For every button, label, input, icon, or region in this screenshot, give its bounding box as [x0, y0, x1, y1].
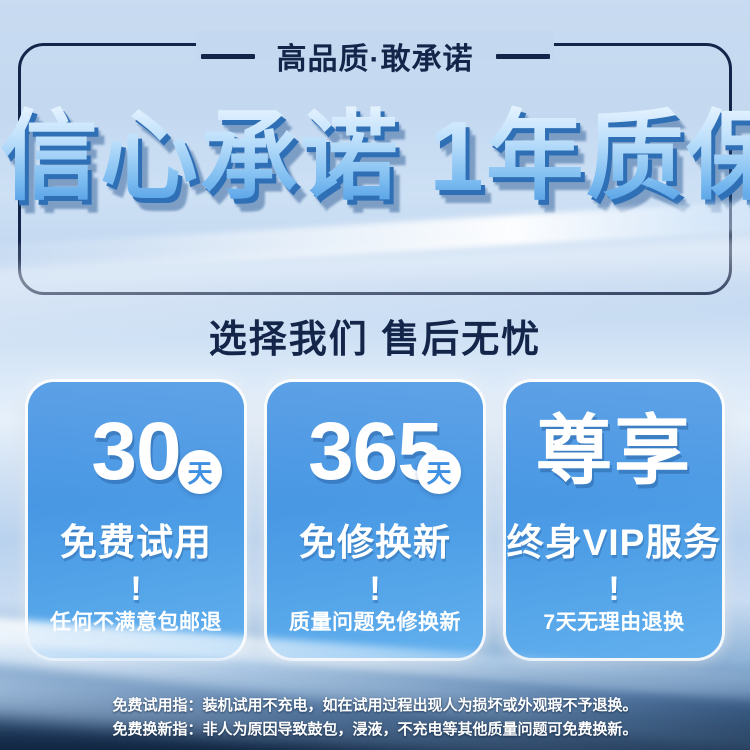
feature-card-trial[interactable]: 30 天 免费试用 ! 任何不满意包邮退	[28, 382, 244, 658]
day-unit-badge: 天	[178, 450, 222, 494]
footer-line-trial: 免费试用指：装机试用不充电，如在试用过程出现人为损坏或外观瑕不予退换。	[0, 694, 750, 718]
sub-headline: 选择我们 售后无忧	[0, 308, 750, 363]
card-note: 任何不满意包邮退	[50, 606, 222, 636]
feature-card-vip[interactable]: 尊享 终身VIP服务 ! 7天无理由退换	[506, 382, 722, 658]
card-big-label: 尊享	[536, 414, 692, 490]
card-headline-row: 尊享	[506, 408, 722, 496]
dash-left-icon	[201, 54, 255, 59]
feature-card-replacement[interactable]: 365 天 免修换新 ! 质量问题免修换新	[267, 382, 483, 658]
card-exclamation: !	[369, 572, 380, 606]
feature-card-row: 30 天 免费试用 ! 任何不满意包邮退 365 天 免修换新 ! 质量问题免修…	[28, 382, 722, 658]
day-unit-badge: 天	[417, 450, 461, 494]
dash-right-icon	[496, 54, 550, 59]
footer-disclaimer: 免费试用指：装机试用不充电，如在试用过程出现人为损坏或外观瑕不予退换。 免费换新…	[0, 694, 750, 742]
promo-banner: 高品质·敢承诺 信心承诺 1年质保 信心承诺 1年质保 选择我们 售后无忧 30…	[0, 0, 750, 750]
card-headline-row: 30 天	[28, 408, 244, 496]
eyebrow-row: 高品质·敢承诺	[0, 34, 750, 78]
card-exclamation: !	[608, 572, 619, 606]
card-mid-label: 免修换新	[299, 512, 451, 566]
card-note: 质量问题免修换新	[289, 606, 461, 636]
card-note: 7天无理由退换	[543, 606, 684, 636]
card-headline-row: 365 天	[267, 408, 483, 496]
card-mid-label: 终身VIP服务	[507, 512, 722, 566]
card-big-number: 30	[91, 411, 180, 493]
card-mid-label: 免费试用	[60, 512, 212, 566]
footer-line-replacement: 免费换新指：非人为原因导致鼓包，浸液，不充电等其他质量问题可免费换新。	[0, 718, 750, 742]
eyebrow-text: 高品质·敢承诺	[277, 34, 474, 78]
hero-headline: 信心承诺 1年质保	[0, 104, 750, 210]
card-exclamation: !	[130, 572, 141, 606]
